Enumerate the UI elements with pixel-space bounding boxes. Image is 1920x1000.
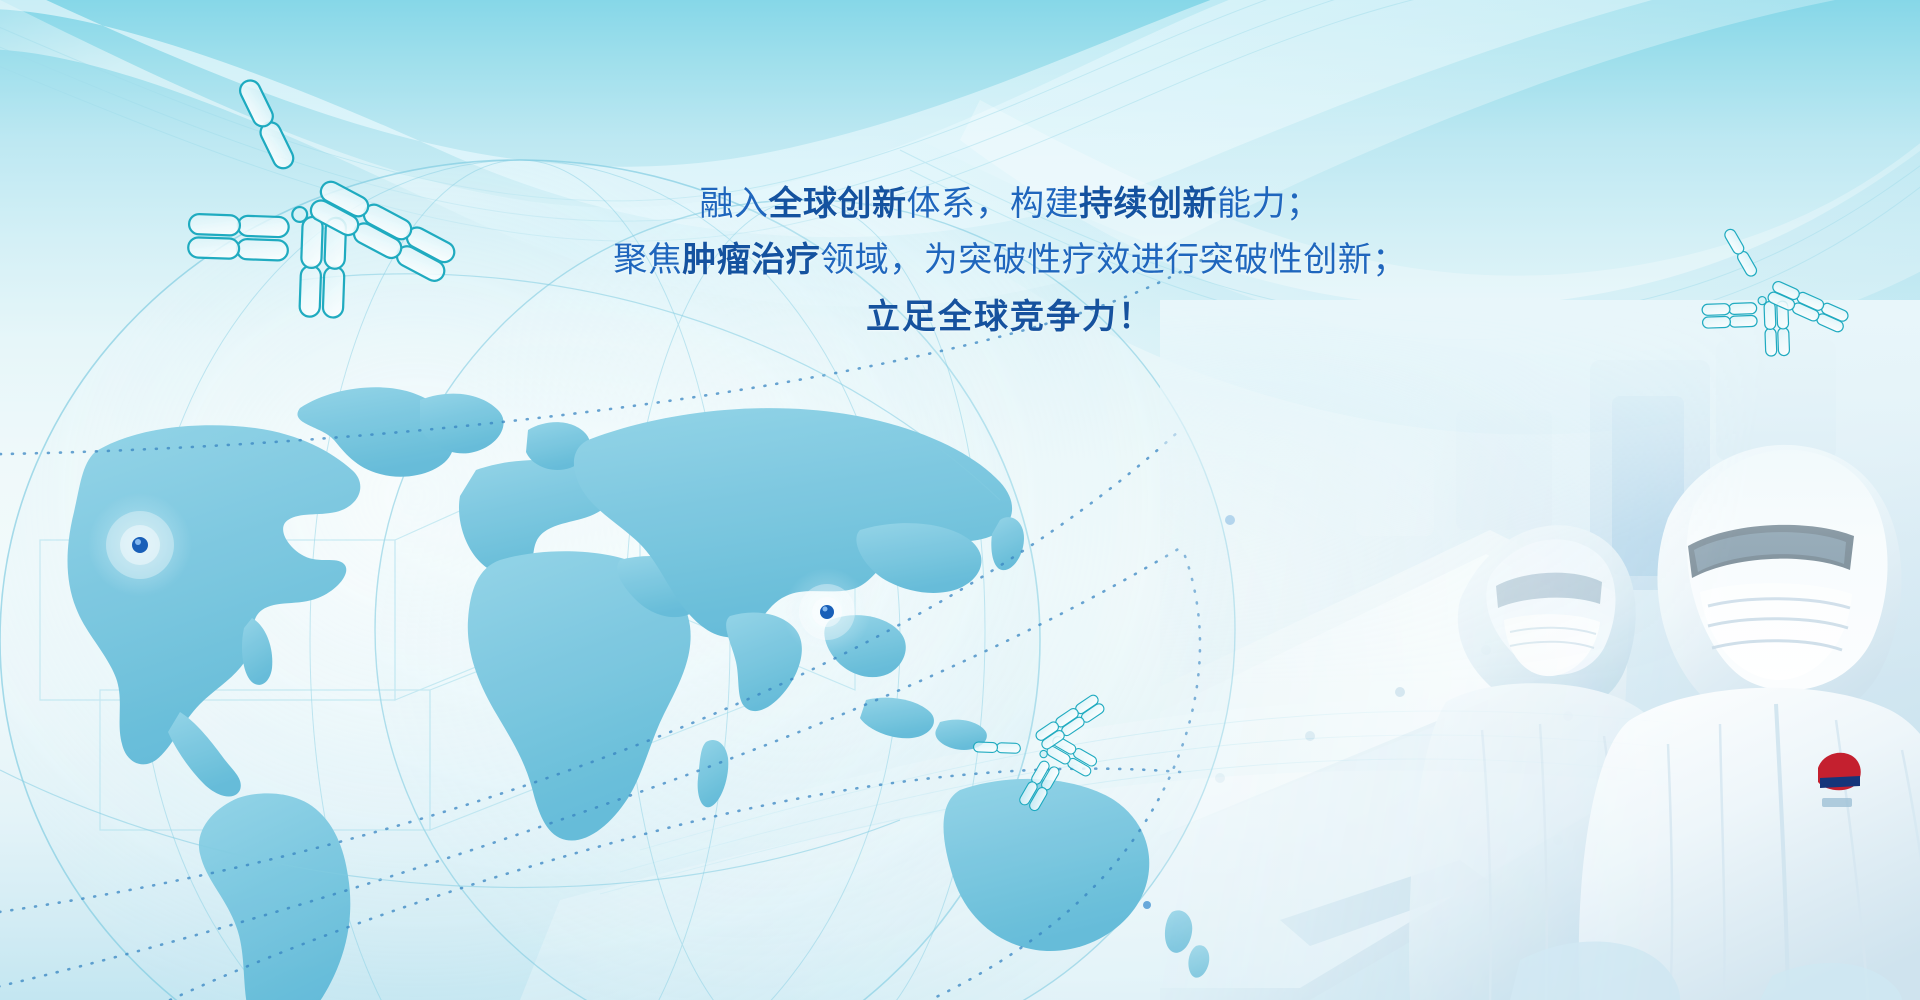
headline-l2-seg1: 聚焦 xyxy=(613,241,682,279)
antibody-icon-top-left xyxy=(186,75,464,322)
antibody-icon-bottom xyxy=(959,653,1126,826)
hero-banner: 融入全球创新体系，构建持续创新能力； 聚焦肿瘤治疗领域，为突破性疗效进行突破性创… xyxy=(0,0,1920,1000)
headline-block: 融入全球创新体系，构建持续创新能力； 聚焦肿瘤治疗领域，为突破性疗效进行突破性创… xyxy=(560,176,1460,345)
photo-top-fade xyxy=(1160,300,1920,1000)
orbit-dotted-paths xyxy=(0,240,1230,1000)
headline-line-1: 融入全球创新体系，构建持续创新能力； xyxy=(560,176,1460,232)
lab-workers-photo xyxy=(1160,300,1920,1000)
headline-l3-seg1: 立足全球竞争力！ xyxy=(866,298,1154,336)
headline-line-2: 聚焦肿瘤治疗领域，为突破性疗效进行突破性创新； xyxy=(560,232,1460,288)
headline-line-3: 立足全球竞争力！ xyxy=(560,289,1460,345)
location-marker-americas xyxy=(88,493,192,597)
headline-l1-seg4: 持续创新 xyxy=(1079,185,1217,223)
headline-l1-seg3: 体系，构建 xyxy=(907,185,1080,223)
headline-l2-seg2: 肿瘤治疗 xyxy=(682,241,820,279)
headline-l1-seg5: 能力； xyxy=(1217,185,1321,223)
headline-l1-seg2: 全球创新 xyxy=(769,185,907,223)
headline-l1-seg1: 融入 xyxy=(700,185,769,223)
headline-l2-seg3: 领域，为突破性疗效进行突破性创新； xyxy=(820,241,1407,279)
location-marker-asia xyxy=(783,568,871,656)
accent-dot xyxy=(1143,901,1151,909)
